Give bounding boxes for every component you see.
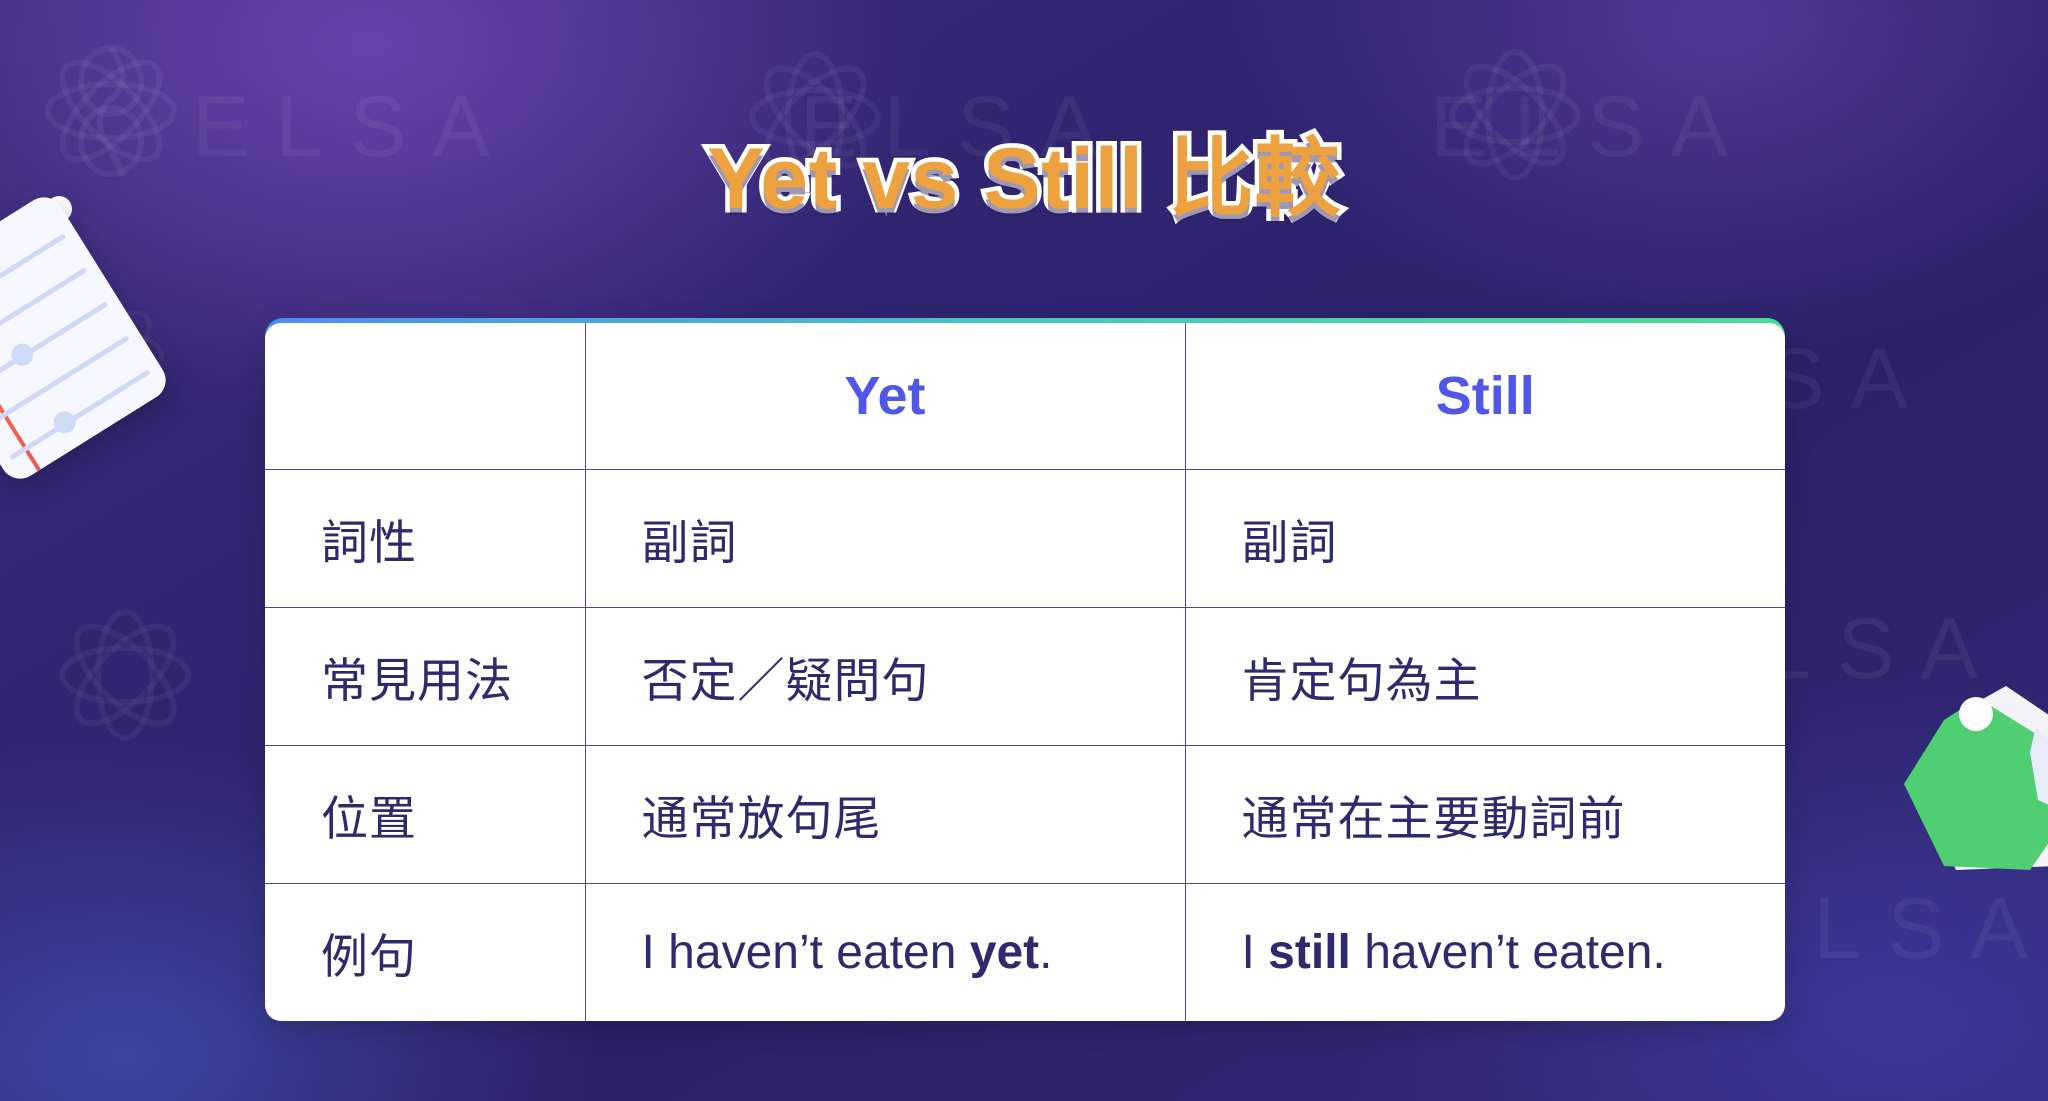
example-yet-post: .: [1039, 926, 1052, 979]
column-header-blank: [265, 323, 585, 469]
cell-still-part-of-speech: 副詞: [1185, 469, 1785, 607]
row-label-part-of-speech: 詞性: [265, 469, 585, 607]
example-yet-bold: yet: [970, 926, 1039, 979]
column-header-yet: Yet: [585, 323, 1185, 469]
comparison-table-container: Yet Still 詞性 副詞 副詞 常見用法 否定／疑問句 肯定句為主 位置 …: [265, 318, 1785, 1021]
example-still-bold: still: [1268, 926, 1351, 979]
table-row: 常見用法 否定／疑問句 肯定句為主: [265, 607, 1785, 745]
cell-still-example: I still haven’t eaten.: [1185, 883, 1785, 1021]
table-head: Yet Still: [265, 323, 1785, 469]
column-header-still: Still: [1185, 323, 1785, 469]
comparison-table: Yet Still 詞性 副詞 副詞 常見用法 否定／疑問句 肯定句為主 位置 …: [265, 323, 1785, 1021]
table-header-row: Yet Still: [265, 323, 1785, 469]
table-row: 例句 I haven’t eaten yet. I still haven’t …: [265, 883, 1785, 1021]
table-body: 詞性 副詞 副詞 常見用法 否定／疑問句 肯定句為主 位置 通常放句尾 通常在主…: [265, 469, 1785, 1021]
row-label-common-usage: 常見用法: [265, 607, 585, 745]
cell-yet-example: I haven’t eaten yet.: [585, 883, 1185, 1021]
example-yet-pre: I haven’t eaten: [642, 926, 970, 979]
cell-still-common-usage: 肯定句為主: [1185, 607, 1785, 745]
row-label-position: 位置: [265, 745, 585, 883]
table-row: 位置 通常放句尾 通常在主要動詞前: [265, 745, 1785, 883]
page-title: Yet vs Still 比較: [0, 108, 2048, 233]
star-ornament-icon: [50, 600, 200, 750]
example-still-pre: I: [1242, 926, 1269, 979]
example-still-post: haven’t eaten.: [1351, 926, 1666, 979]
cell-yet-position: 通常放句尾: [585, 745, 1185, 883]
row-label-example: 例句: [265, 883, 585, 1021]
slide-background: ELSA ELSA ELSA ELSA ELSA ELSA: [0, 0, 2048, 1101]
green-folder-icon: [1860, 680, 2048, 880]
table-row: 詞性 副詞 副詞: [265, 469, 1785, 607]
cell-still-position: 通常在主要動詞前: [1185, 745, 1785, 883]
cell-yet-common-usage: 否定／疑問句: [585, 607, 1185, 745]
cell-yet-part-of-speech: 副詞: [585, 469, 1185, 607]
